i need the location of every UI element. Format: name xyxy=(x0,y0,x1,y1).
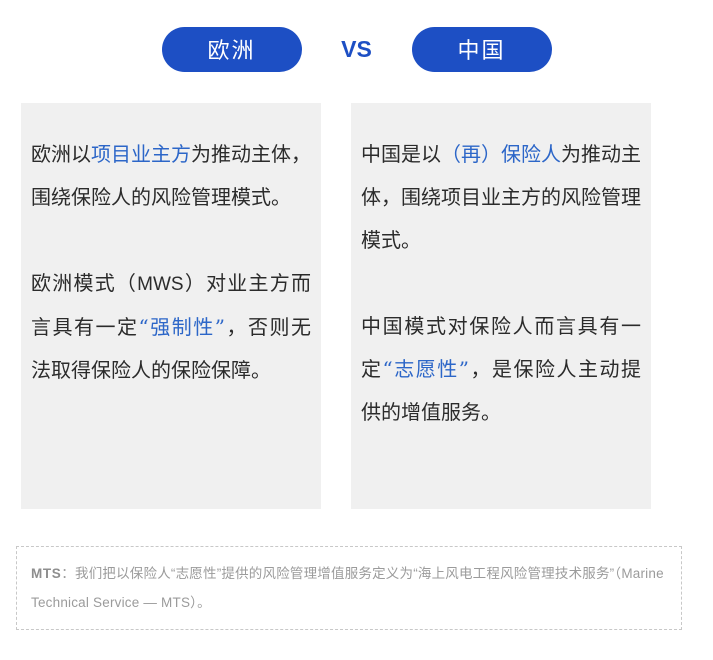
footnote-box: MTS：我们把以保险人“志愿性”提供的风险管理增值服务定义为“海上风电工程风险管… xyxy=(16,546,682,630)
europe-p1-highlight: 项目业主方 xyxy=(91,142,191,166)
china-p1-highlight: （再）保险人 xyxy=(441,142,561,166)
footnote-separator: ： xyxy=(61,566,75,581)
footnote-body: 我们把以保险人“志愿性”提供的风险管理增值服务定义为“海上风电工程风险管理技术服… xyxy=(31,566,664,610)
comparison-card-china: 中国是以（再）保险人为推动主体，围绕项目业主方的风险管理模式。 中国模式对保险人… xyxy=(351,103,651,509)
footnote-tag: MTS xyxy=(31,566,61,581)
china-p1-before: 中国是以 xyxy=(361,142,441,166)
footnote-text: MTS：我们把以保险人“志愿性”提供的风险管理增值服务定义为“海上风电工程风险管… xyxy=(31,559,667,617)
comparison-card-europe: 欧洲以项目业主方为推动主体，围绕保险人的风险管理模式。 欧洲模式（MWS）对业主… xyxy=(21,103,321,509)
china-paragraph-2: 中国模式对保险人而言具有一定“志愿性”，是保险人主动提供的增值服务。 xyxy=(361,305,641,434)
vs-separator-label: VS xyxy=(302,36,412,63)
europe-p2-acronym: MWS xyxy=(137,274,183,295)
china-p2-highlight: “志愿性” xyxy=(383,357,469,381)
comparison-header: 欧洲 VS 中国 xyxy=(0,0,713,98)
comparison-cards: 欧洲以项目业主方为推动主体，围绕保险人的风险管理模式。 欧洲模式（MWS）对业主… xyxy=(21,103,651,509)
europe-paragraph-2: 欧洲模式（MWS）对业主方而言具有一定“强制性”，否则无法取得保险人的保险保障。 xyxy=(31,262,311,392)
europe-paragraph-1: 欧洲以项目业主方为推动主体，围绕保险人的风险管理模式。 xyxy=(31,133,311,219)
europe-p1-before: 欧洲以 xyxy=(31,142,91,166)
europe-p2-highlight: “强制性” xyxy=(139,315,225,339)
region-badge-china[interactable]: 中国 xyxy=(412,27,552,72)
region-badge-europe[interactable]: 欧洲 xyxy=(162,27,302,72)
europe-p2-before: 欧洲模式（ xyxy=(31,271,137,295)
china-paragraph-1: 中国是以（再）保险人为推动主体，围绕项目业主方的风险管理模式。 xyxy=(361,133,641,262)
